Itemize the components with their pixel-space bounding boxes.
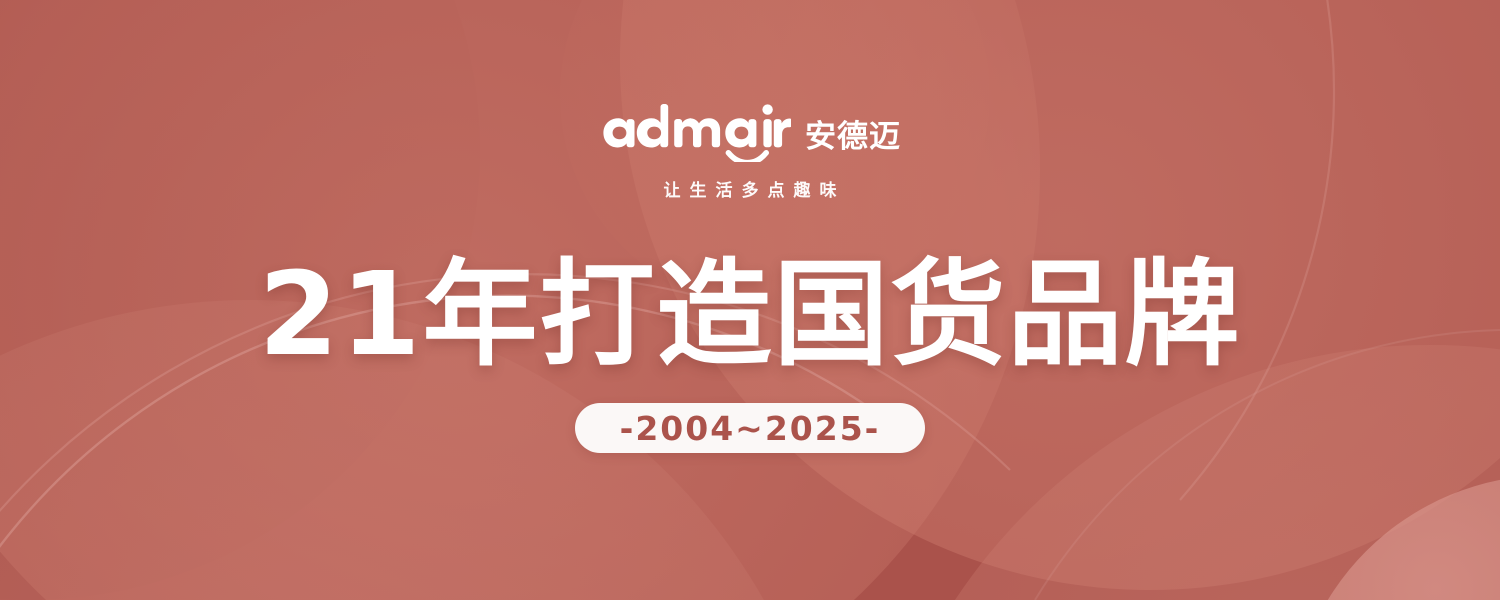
year-range-text: -2004~2025- bbox=[620, 412, 881, 445]
brand-tagline: 让生活多点趣味 bbox=[655, 183, 846, 200]
brand-logo: 安德迈 bbox=[599, 104, 901, 162]
year-range-badge: -2004~2025- bbox=[575, 403, 925, 453]
banner-content: 安德迈 让生活多点趣味 21年打造国货品牌 -2004~2025- bbox=[0, 0, 1500, 600]
admair-wordmark-icon bbox=[599, 104, 791, 162]
brand-name-cn: 安德迈 bbox=[805, 122, 901, 162]
promo-banner: 安德迈 让生活多点趣味 21年打造国货品牌 -2004~2025- bbox=[0, 0, 1500, 600]
banner-headline: 21年打造国货品牌 bbox=[258, 258, 1241, 373]
